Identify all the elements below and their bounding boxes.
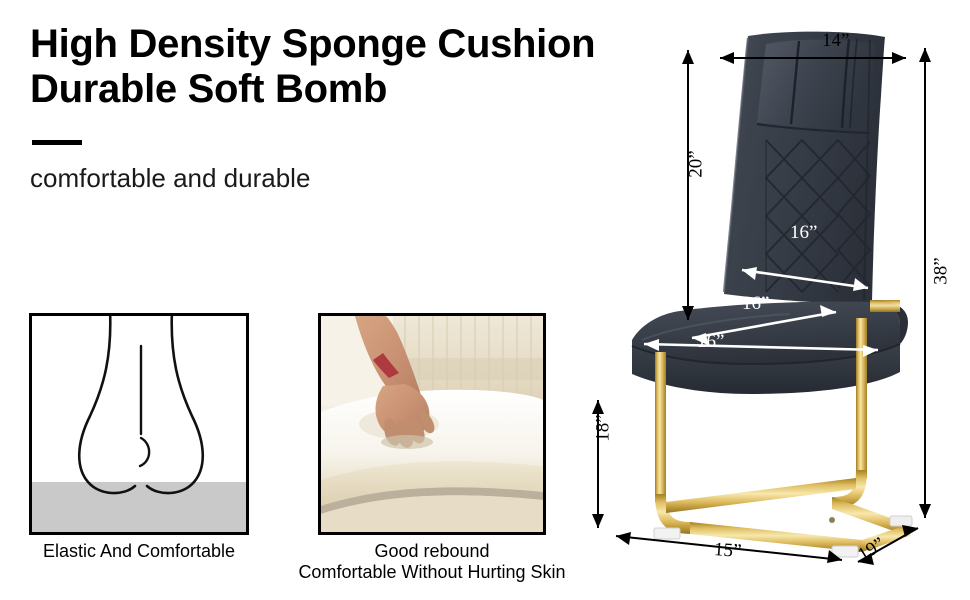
seated-figure-icon — [32, 316, 246, 532]
hand-pressing-foam-photo — [321, 316, 543, 532]
dim-label-backrest-height: 20” — [686, 150, 708, 177]
dim-label-seat-width: 16” — [697, 331, 724, 353]
dim-label-total-height: 38” — [931, 257, 953, 284]
chair-dimension-diagram — [570, 0, 970, 600]
title-divider — [32, 140, 82, 145]
dim-label-seat-depth: 16” — [742, 293, 769, 315]
infographic-canvas: High Density Sponge Cushion Durable Soft… — [0, 0, 970, 600]
elastic-caption: Elastic And Comfortable — [21, 541, 257, 562]
dim-label-top-width: 14” — [822, 30, 849, 52]
rebound-photo-frame — [318, 313, 546, 535]
dim-label-seat-height: 18” — [593, 414, 615, 441]
subtitle: comfortable and durable — [30, 163, 310, 194]
elastic-illustration-frame — [29, 313, 249, 535]
headline-line-1: High Density Sponge Cushion — [30, 22, 595, 66]
rebound-caption: Good rebound Comfortable Without Hurting… — [280, 541, 584, 582]
rebound-caption-line-1: Good rebound — [374, 541, 489, 561]
dim-label-backrest-width: 16” — [790, 222, 817, 244]
rebound-caption-line-2: Comfortable Without Hurting Skin — [298, 562, 565, 582]
dim-label-base-width: 15” — [713, 539, 742, 563]
